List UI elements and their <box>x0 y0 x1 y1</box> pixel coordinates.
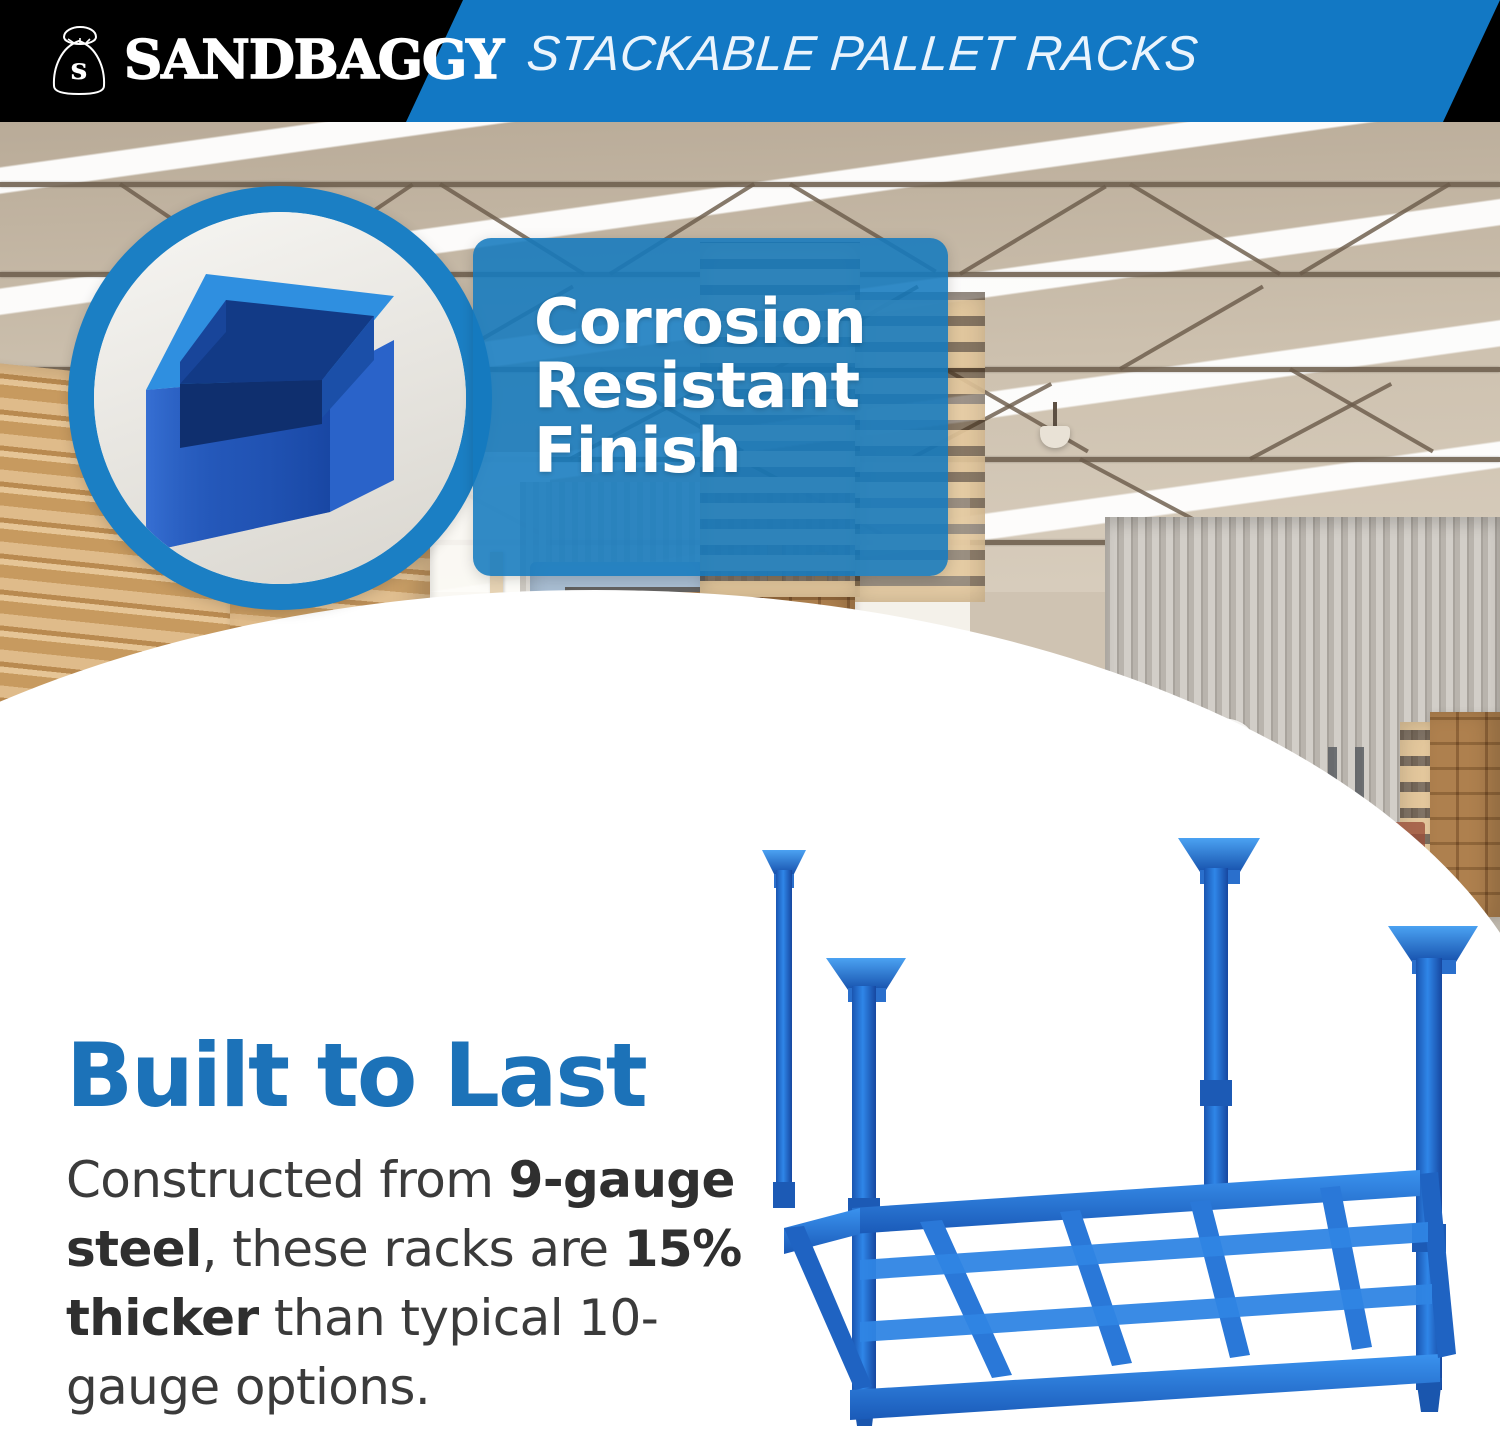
brand-logo[interactable]: s SANDBAGGY <box>48 24 503 96</box>
svg-text:s: s <box>71 52 88 87</box>
page-headline: Built to Last <box>66 1032 756 1120</box>
body-text: , these racks are <box>202 1220 624 1278</box>
rack-rail-front <box>850 1354 1440 1420</box>
corrosion-callout-text: Corrosion Resistant Finish <box>534 290 866 483</box>
rack-post <box>1178 838 1260 1198</box>
body-text: Constructed from <box>66 1151 509 1209</box>
sandbag-icon: s <box>48 24 110 96</box>
stackable-pallet-rack-product <box>760 830 1500 1434</box>
square-steel-tube-icon <box>94 212 466 584</box>
body-copy: Constructed from 9-gauge steel, these ra… <box>66 1146 756 1422</box>
page-header: s SANDBAGGY STACKABLE PALLET RACKS <box>0 0 1500 122</box>
rack-post <box>826 958 906 1426</box>
rack-cross-member <box>920 1220 1012 1378</box>
tube-closeup-inset <box>68 186 492 610</box>
header-title: STACKABLE PALLET RACKS <box>525 26 1201 82</box>
rack-post <box>1388 926 1478 1412</box>
rack-cross-member <box>1320 1186 1372 1350</box>
rack-post <box>762 850 806 1208</box>
bottom-text-block: Built to Last Constructed from 9-gauge s… <box>66 1032 756 1422</box>
corrosion-callout-box: Corrosion Resistant Finish <box>473 238 948 576</box>
brand-wordmark: SANDBAGGY <box>124 34 503 87</box>
ceiling-lamp-icon <box>1040 402 1070 448</box>
